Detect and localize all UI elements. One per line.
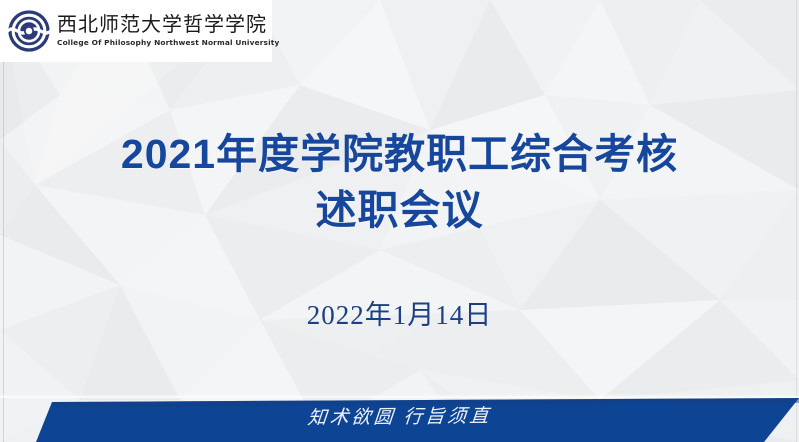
logo-chinese-name: 西北师范大学哲学学院 <box>57 14 279 36</box>
logo-text-group: 西北师范大学哲学学院 College Of Philosophy Northwe… <box>57 14 279 48</box>
presentation-slide: 西北师范大学哲学学院 College Of Philosophy Northwe… <box>0 0 799 442</box>
slide-title-line-1: 2021年度学院教职工综合考核 <box>0 126 799 182</box>
slide-date: 2022年1月14日 <box>0 298 799 332</box>
nwnu-philosophy-emblem-icon <box>7 9 51 53</box>
bottom-banner: 知术欲圆 行旨须直 <box>0 394 799 442</box>
institution-logo-block: 西北师范大学哲学学院 College Of Philosophy Northwe… <box>0 0 272 62</box>
logo-english-name: College Of Philosophy Northwest Normal U… <box>57 38 279 48</box>
slide-title-block: 2021年度学院教职工综合考核 述职会议 <box>0 126 799 238</box>
slide-title-line-2: 述职会议 <box>0 182 799 238</box>
